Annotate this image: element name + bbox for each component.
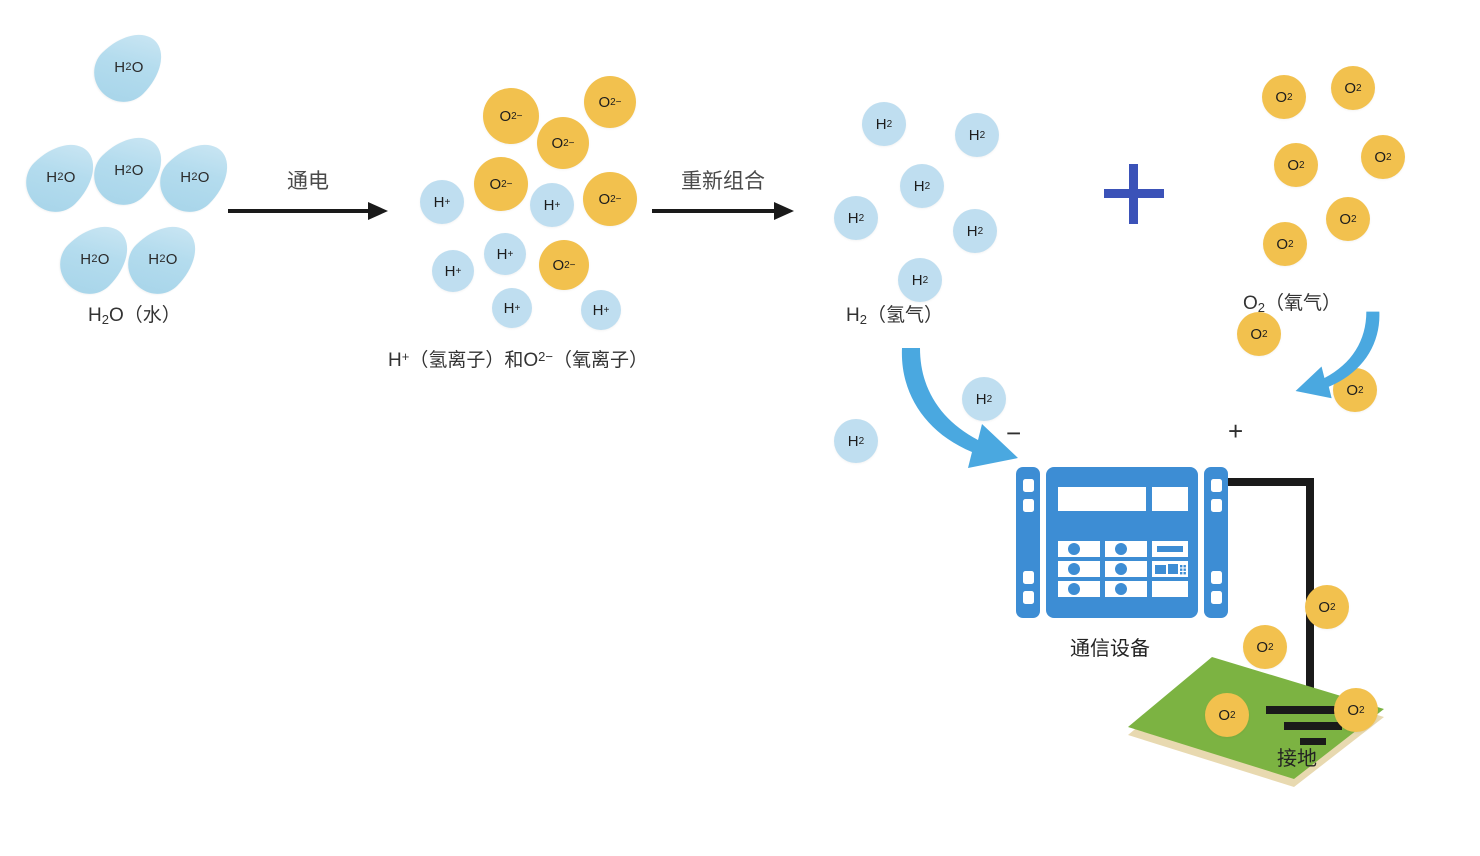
oxygen-molecule: O2: [1334, 688, 1378, 732]
oxygen-ion: O2−: [483, 88, 539, 144]
oxygen-molecule: O2: [1305, 585, 1349, 629]
hydrogen-caption: H2（氢气）: [846, 300, 943, 327]
oxygen-ion: O2−: [583, 172, 637, 226]
arrow-glyph: [652, 199, 794, 223]
oxygen-ion: O2−: [584, 76, 636, 128]
oxygen-molecule: O2: [1263, 222, 1307, 266]
oxygen-molecule: O2: [1361, 135, 1405, 179]
hydrogen-ion: H+: [530, 183, 574, 227]
oxygen-molecule: O2: [1262, 75, 1306, 119]
ions-caption: H+（氢离子）和O2−（氧离子）: [388, 345, 648, 372]
reaction-arrow-label: 通电: [287, 165, 329, 195]
hydrogen-ion: H+: [432, 250, 474, 292]
hydrogen-ion: H+: [492, 288, 532, 328]
hydrogen-ion: H+: [581, 290, 621, 330]
droplet-label: H2O: [166, 140, 224, 214]
terminal-negative: −: [1006, 420, 1021, 446]
oxygen-molecule: O2: [1326, 197, 1370, 241]
hydrogen-molecule: H2: [955, 113, 999, 157]
telecom-equipment[interactable]: [1016, 465, 1228, 625]
reaction-arrow-electrify: 通电: [228, 165, 388, 225]
equipment-label: 通信设备: [1070, 632, 1150, 661]
hydrogen-molecule: H2: [834, 419, 878, 463]
diagram-canvas: H2O H2O H2O H2O H2O H2O H2O（水） 通电: [0, 0, 1480, 856]
plus-glyph: [1098, 158, 1170, 230]
plus-sign: [1098, 158, 1170, 235]
oxygen-ion: O2−: [537, 117, 589, 169]
water-caption: H2O（水）: [88, 300, 181, 327]
terminal-positive: +: [1228, 418, 1243, 444]
oxygen-molecule: O2: [1331, 66, 1375, 110]
hydrogen-molecule: H2: [834, 196, 878, 240]
droplet-label: H2O: [134, 222, 192, 296]
droplet-label: H2O: [32, 140, 90, 214]
oxygen-molecule: O2: [1274, 143, 1318, 187]
hydrogen-ion: H+: [484, 233, 526, 275]
hydrogen-molecule: H2: [898, 258, 942, 302]
arrow-glyph: [228, 199, 388, 223]
hydrogen-ion: H+: [420, 180, 464, 224]
droplet-label: H2O: [100, 30, 158, 104]
oxygen-ion: O2−: [539, 240, 589, 290]
hydrogen-molecule: H2: [953, 209, 997, 253]
oxygen-ion: O2−: [474, 157, 528, 211]
reaction-arrow-label: 重新组合: [681, 165, 765, 195]
oxygen-molecule: O2: [1243, 625, 1287, 669]
hydrogen-molecule: H2: [900, 164, 944, 208]
oxygen-molecule: O2: [1205, 693, 1249, 737]
equipment-graphic: [1016, 465, 1228, 620]
oxygen-flow-arrow: [1258, 300, 1388, 420]
droplet-label: H2O: [66, 222, 124, 296]
droplet-label: H2O: [100, 133, 158, 207]
hydrogen-molecule: H2: [862, 102, 906, 146]
ground-label: 接地: [1277, 742, 1317, 771]
reaction-arrow-recombine: 重新组合: [652, 165, 794, 225]
